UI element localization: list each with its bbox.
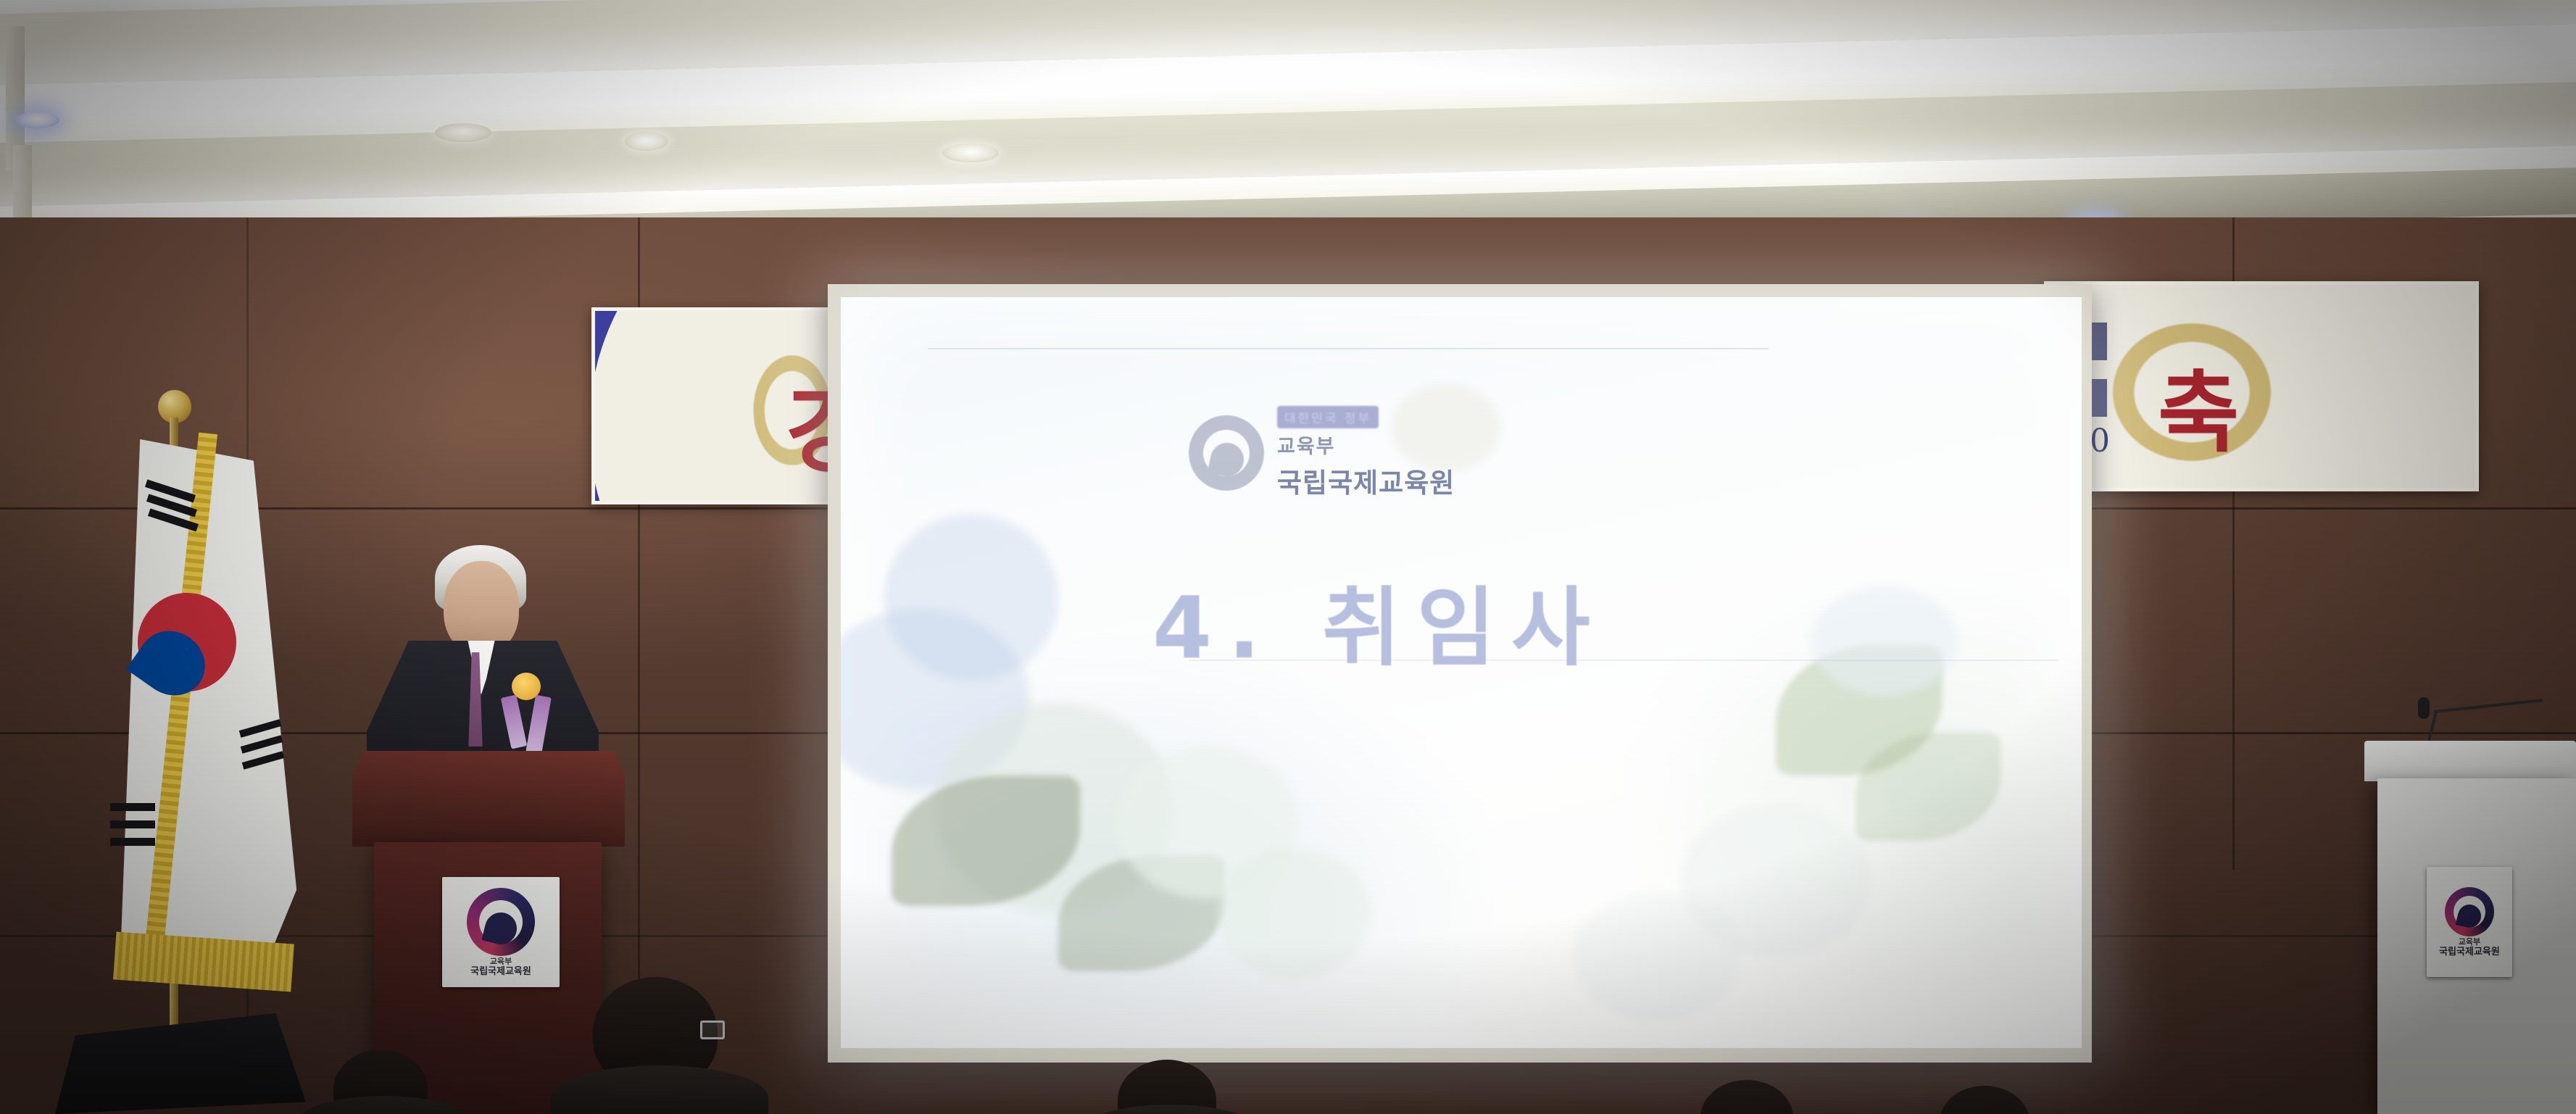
microphone-head-icon xyxy=(2418,697,2430,719)
slide-divider xyxy=(928,348,1769,349)
lectern-plate-ministry: 교육부 xyxy=(2459,938,2480,946)
institute-name: 국립국제교육원 xyxy=(1277,461,1455,500)
right-celebration-banner: 축 00 xyxy=(2044,281,2479,491)
eyeglasses-icon xyxy=(700,1021,725,1039)
photo-scene: 경 축 00 대한민국 xyxy=(0,0,2576,1114)
projection-screen: 대한민국 정부 교육부 국립국제교육원 4. 취임사 xyxy=(841,297,2082,1048)
corsage-ribbon xyxy=(525,695,552,755)
corsage-ribbon xyxy=(501,694,527,749)
podium-plate-institute: 국립국제교육원 xyxy=(470,967,531,976)
lectern-top xyxy=(2364,741,2576,781)
trigram-gon xyxy=(110,803,155,811)
trigram-gon xyxy=(110,838,155,846)
ministry-name: 교육부 xyxy=(1277,431,1455,459)
flower-decor xyxy=(884,515,1058,681)
flower-decor xyxy=(1218,848,1370,978)
downlight-icon xyxy=(942,144,999,162)
lectern-logo-plate: 교육부 국립국제교육원 xyxy=(2427,867,2512,977)
slide-title: 4. 취임사 xyxy=(1152,558,1606,682)
government-badge: 대한민국 정부 xyxy=(1277,406,1379,428)
flower-decor xyxy=(1812,587,1957,696)
taeguk-swirl-icon xyxy=(1189,415,1264,491)
speaker-head xyxy=(444,561,519,654)
podium-top xyxy=(352,751,625,847)
banner-swoosh-blue-2 xyxy=(2265,281,2479,491)
led-spot-icon xyxy=(14,112,59,128)
banner-character: 축 xyxy=(2158,341,2239,470)
downlight-icon xyxy=(435,123,491,142)
speaker-corsage xyxy=(500,664,562,765)
lectern-plate-institute: 국립국제교육원 xyxy=(2439,947,2500,957)
podium-plate-ministry: 교육부 xyxy=(490,957,512,965)
downlight-icon xyxy=(625,132,668,151)
podium-logo-plate: 교육부 국립국제교육원 xyxy=(442,877,560,987)
taeguk-swirl-icon xyxy=(467,888,535,956)
flower-decor xyxy=(1573,891,1740,1022)
taeguk-swirl-icon xyxy=(2445,887,2494,936)
trigram-gon xyxy=(110,820,155,828)
slide-logo-lockup: 대한민국 정부 교육부 국립국제교육원 xyxy=(1189,406,1455,500)
